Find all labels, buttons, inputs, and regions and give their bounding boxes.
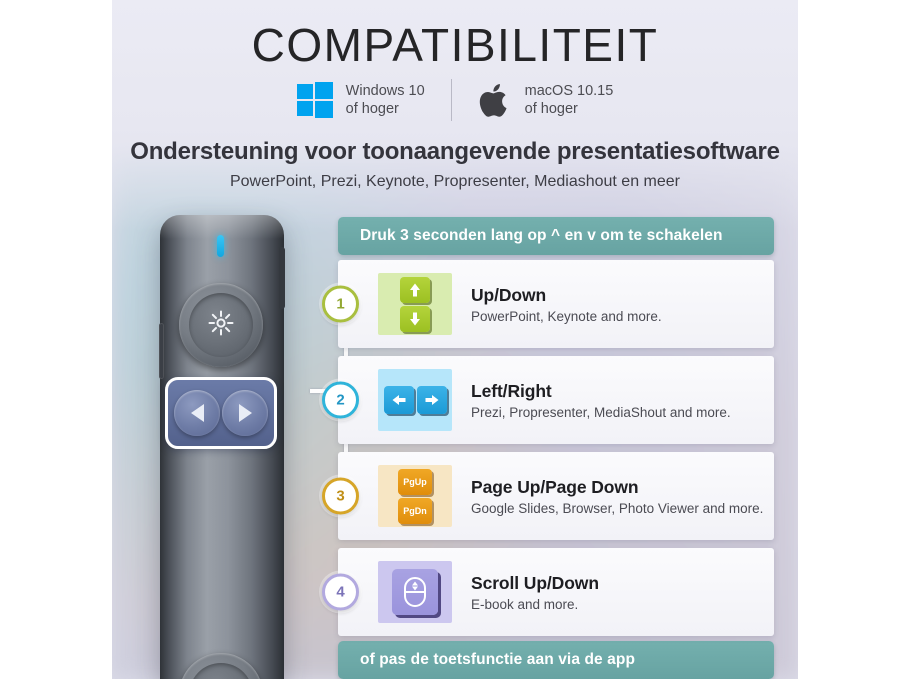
- list-item-title: Up/Down: [471, 285, 662, 306]
- device-side-button: [279, 247, 285, 309]
- list-item-text: Left/Right Prezi, Propresenter, MediaSho…: [471, 381, 731, 420]
- subtitle-heading: Ondersteuning voor toonaangevende presen…: [112, 138, 798, 166]
- presentation-remote: [138, 205, 298, 679]
- device-side-strip: [159, 323, 164, 379]
- triangle-right-icon: [239, 404, 252, 422]
- laser-pointer-button[interactable]: [179, 283, 263, 367]
- list-item-text: Page Up/Page Down Google Slides, Browser…: [471, 477, 763, 516]
- key-page-down: PgDn: [398, 498, 432, 524]
- list-item-subtitle: Prezi, Propresenter, MediaShout and more…: [471, 405, 731, 420]
- list-item[interactable]: 1: [338, 260, 774, 348]
- poster-root: COMPATIBILITEIT Windows 10 of hoger: [0, 0, 905, 679]
- status-badge: 4: [322, 574, 359, 611]
- list-item-subtitle: E-book and more.: [471, 597, 599, 612]
- list-item-title: Left/Right: [471, 381, 731, 402]
- device-led-indicator: [217, 235, 224, 257]
- list-item-title: Page Up/Page Down: [471, 477, 763, 498]
- status-badge: 2: [322, 382, 359, 419]
- record-button-inner: [189, 663, 253, 679]
- windows-logo-icon: [297, 82, 333, 118]
- key-page-up: PgUp: [398, 469, 432, 495]
- key-arrow-right: [417, 386, 447, 414]
- os-compatibility-row: Windows 10 of hoger macOS 10.15 of: [112, 79, 798, 121]
- function-card-list: 1: [338, 260, 774, 636]
- list-item-subtitle: Google Slides, Browser, Photo Viewer and…: [471, 501, 763, 516]
- os-item-windows: Windows 10 of hoger: [297, 82, 425, 118]
- arrow-left-right-keys-icon: [378, 369, 452, 431]
- status-badge: 1: [322, 286, 359, 323]
- page-up-down-keys-icon: PgUp PgDn: [378, 465, 452, 527]
- header: COMPATIBILITEIT Windows 10 of hoger: [112, 0, 798, 191]
- nav-left-button[interactable]: [174, 390, 220, 436]
- os-label-macos: macOS 10.15 of hoger: [525, 82, 614, 118]
- mouse-scroll-key: [392, 569, 438, 615]
- arrow-up-down-keys-icon: [378, 273, 452, 335]
- triangle-left-icon: [191, 404, 204, 422]
- list-item-text: Scroll Up/Down E-book and more.: [471, 573, 599, 612]
- software-list: PowerPoint, Prezi, Keynote, Propresenter…: [112, 173, 798, 191]
- page-title: COMPATIBILITEIT: [112, 19, 798, 71]
- os-label-windows: Windows 10 of hoger: [346, 82, 425, 118]
- list-item-title: Scroll Up/Down: [471, 573, 599, 594]
- function-list-panel: Druk 3 seconden lang op ^ en v om te sch…: [338, 217, 774, 679]
- apple-logo-icon: [478, 80, 512, 120]
- os-macos-line1: macOS 10.15: [525, 83, 614, 99]
- os-separator: [451, 79, 452, 121]
- nav-right-button[interactable]: [222, 390, 268, 436]
- list-item-subtitle: PowerPoint, Keynote and more.: [471, 309, 662, 324]
- panel-bottom-bar: of pas de toetsfunctie aan via de app: [338, 641, 774, 679]
- status-badge: 3: [322, 478, 359, 515]
- laser-pointer-icon: [208, 310, 234, 341]
- os-macos-line2: of hoger: [525, 100, 614, 118]
- panel-top-bar: Druk 3 seconden lang op ^ en v om te sch…: [338, 217, 774, 255]
- key-arrow-down: [400, 306, 430, 332]
- list-item[interactable]: 3 PgUp PgDn Page Up/Page Down Google Sli…: [338, 452, 774, 540]
- key-arrow-up: [400, 277, 430, 303]
- list-item-text: Up/Down PowerPoint, Keynote and more.: [471, 285, 662, 324]
- poster-stage: COMPATIBILITEIT Windows 10 of hoger: [112, 0, 798, 679]
- os-item-macos: macOS 10.15 of hoger: [478, 80, 614, 120]
- list-item[interactable]: 2: [338, 356, 774, 444]
- list-item[interactable]: 4 Scroll Up/Down E-: [338, 548, 774, 636]
- os-windows-line1: Windows 10: [346, 83, 425, 99]
- os-windows-line2: of hoger: [346, 100, 425, 118]
- mouse-scroll-icon: [378, 561, 452, 623]
- nav-button-pad-highlight: [165, 377, 277, 449]
- key-arrow-left: [384, 386, 414, 414]
- laser-pointer-button-inner: [189, 293, 253, 357]
